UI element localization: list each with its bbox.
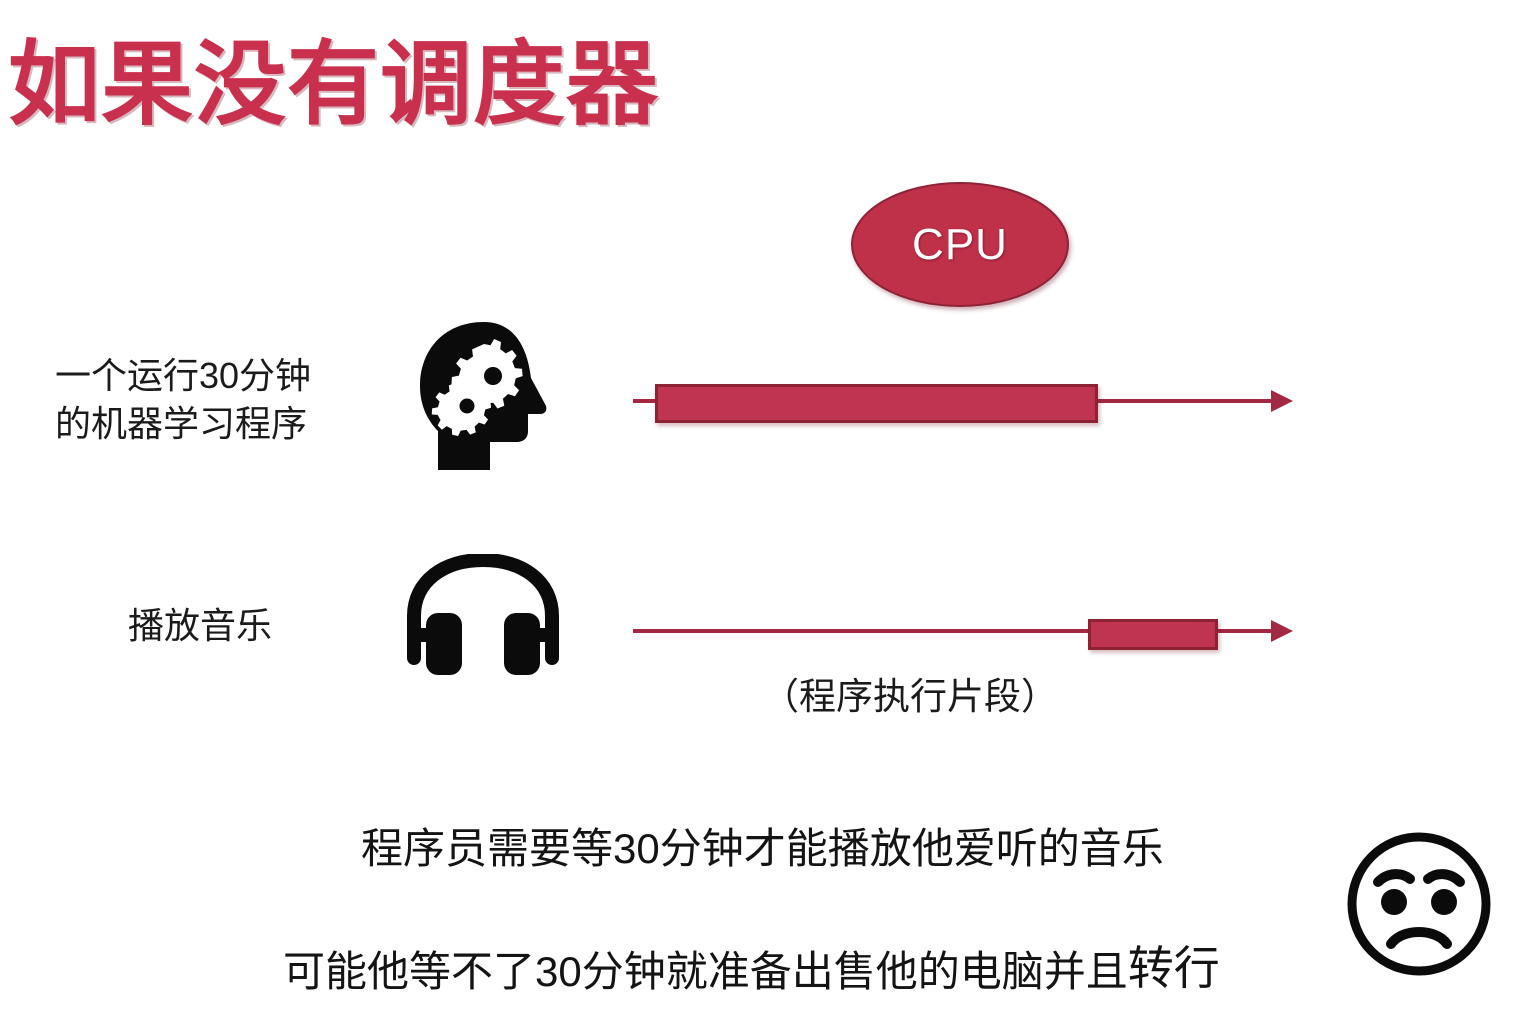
cpu-label: CPU <box>912 220 1008 270</box>
head-gears-icon <box>414 318 559 473</box>
execution-block-music <box>1088 619 1218 650</box>
cpu-node: CPU <box>851 182 1069 307</box>
timeline-ml-program <box>630 381 1295 421</box>
narrative-line-2-emphasis: 转行 <box>1128 941 1220 995</box>
slide-canvas: 如果没有调度器 CPU 一个运行30分钟 的机器学习程序 播放音乐 <box>0 0 1522 1014</box>
narrative-line-2: 可能他等不了30分钟就准备出售他的电脑并且转行 <box>283 932 1220 999</box>
execution-block-ml <box>655 384 1098 423</box>
timeline-arrow-icon <box>1271 620 1293 642</box>
angry-sad-face-icon <box>1344 828 1494 980</box>
row-label-play-music: 播放音乐 <box>128 602 272 650</box>
page-title: 如果没有调度器 <box>8 36 659 135</box>
timeline-play-music <box>630 611 1295 651</box>
headphones-icon <box>398 554 568 679</box>
narrative-line-2-main: 可能他等不了30分钟就准备出售他的电脑并且 <box>283 948 1128 995</box>
row-label-ml-program: 一个运行30分钟 的机器学习程序 <box>55 352 311 447</box>
narrative-line-1: 程序员需要等30分钟才能播放他爱听的音乐 <box>361 815 1164 876</box>
execution-segment-caption: （程序执行片段） <box>762 666 1058 720</box>
timeline-arrow-icon <box>1271 390 1293 412</box>
